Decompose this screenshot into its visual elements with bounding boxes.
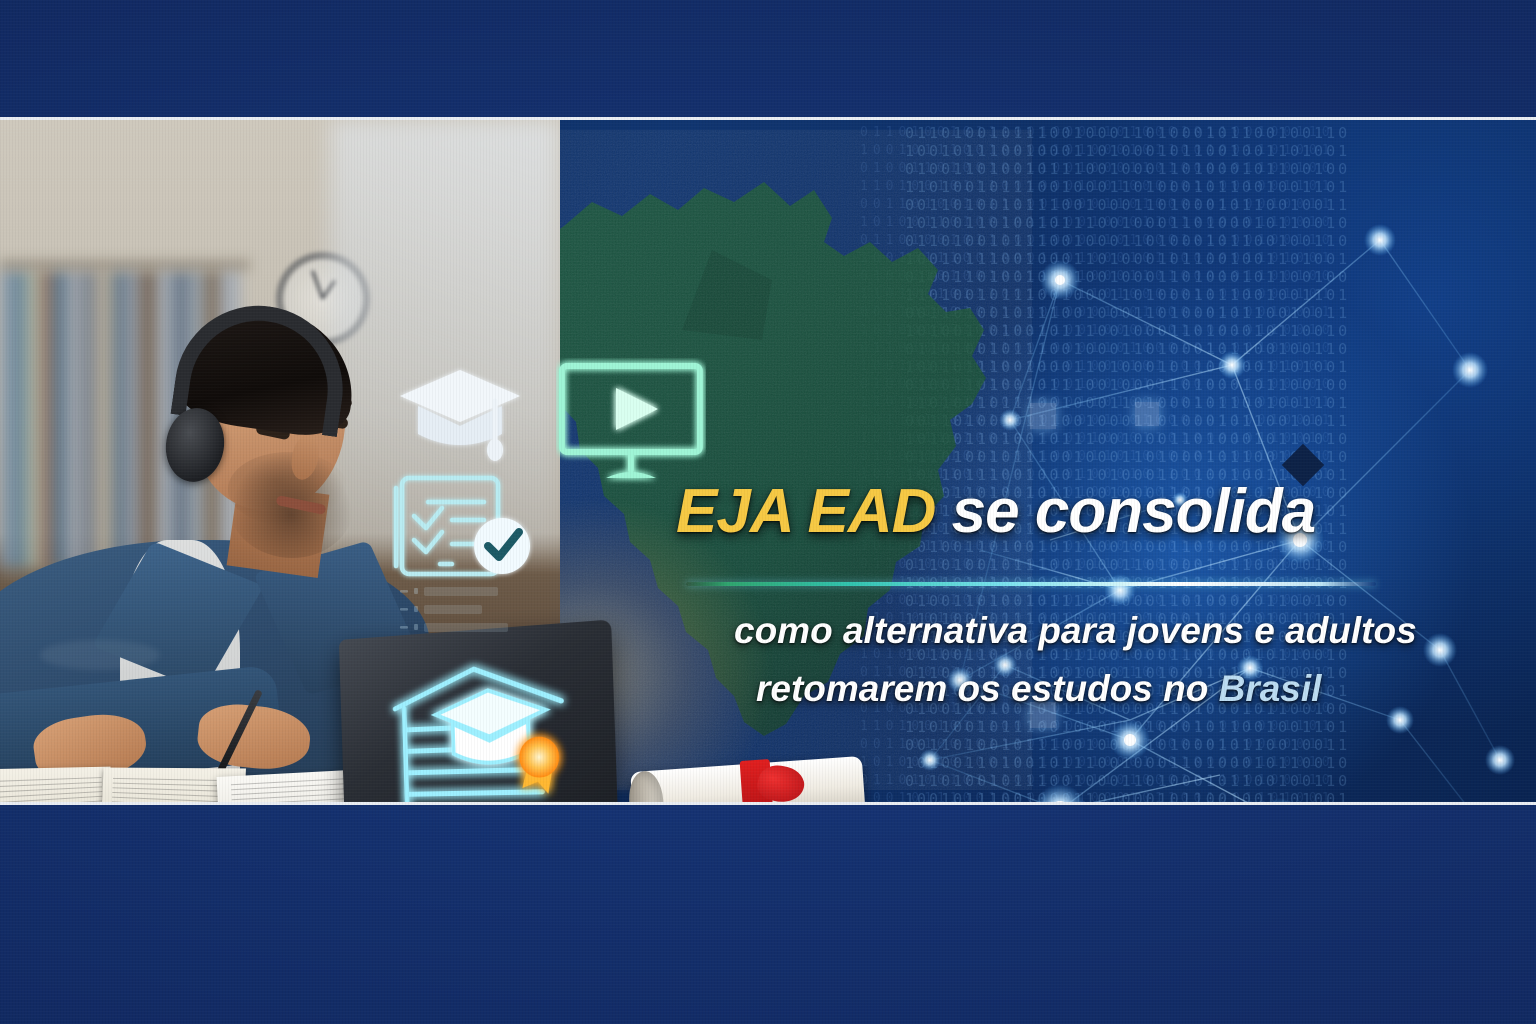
checklist-approved-icon xyxy=(392,468,552,586)
graduation-cap-icon xyxy=(396,360,524,468)
outer-frame: 0110100101110010001101000101100100110 10… xyxy=(0,0,1536,1024)
decor-square-1 xyxy=(1030,403,1056,429)
subtitle-line-2: retomarem os estudos no Brasil xyxy=(756,670,1516,707)
diploma-certificate-icon xyxy=(377,646,584,805)
headline-rest: se consolida xyxy=(952,477,1316,546)
ghost-bullet-text xyxy=(398,582,538,638)
news-banner: 0110100101110010001101000101100100110 10… xyxy=(0,117,1536,805)
decor-square-2 xyxy=(1135,402,1159,426)
headline-accent: EJA EAD xyxy=(676,477,935,546)
headline: EJA EAD se consolida xyxy=(676,480,1376,543)
ribbon-tail xyxy=(777,803,799,805)
subtitle-line-2-prefix: retomarem os estudos no xyxy=(756,668,1219,709)
subtitle-line-1: como alternativa para jovens e adultos xyxy=(734,612,1494,649)
headline-divider xyxy=(686,582,1376,586)
video-monitor-icon xyxy=(556,358,706,486)
subtitle-highlight-brasil: Brasil xyxy=(1219,668,1322,709)
open-book xyxy=(0,768,242,805)
